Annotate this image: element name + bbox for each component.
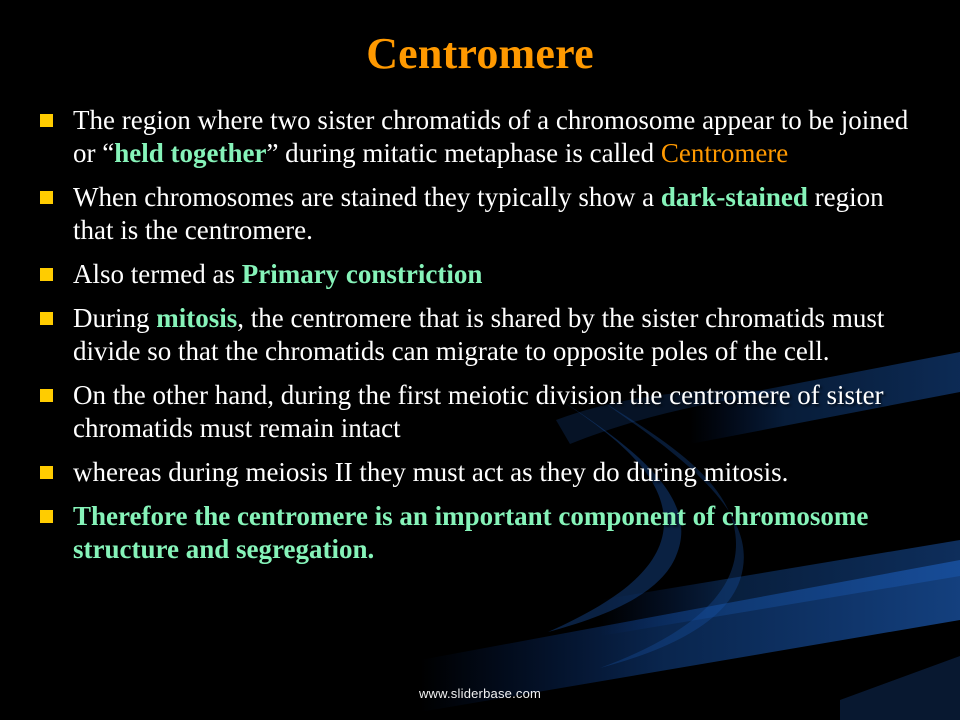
- bullet-item-5: On the other hand, during the first meio…: [40, 379, 930, 445]
- watermark-label: www.sliderbase.com: [0, 686, 960, 701]
- bullet-text-1: The region where two sister chromatids o…: [73, 104, 930, 170]
- bullet-square-icon: [40, 389, 53, 402]
- bullet-3-segment-1-highlight: Primary constriction: [242, 259, 483, 289]
- bullet-square-icon: [40, 268, 53, 281]
- presentation-slide: Centromere The region where two sister c…: [0, 0, 960, 720]
- bullet-text-5: On the other hand, during the first meio…: [73, 379, 930, 445]
- bullet-text-7: Therefore the centromere is an important…: [73, 500, 930, 566]
- bullet-4-segment-0: During: [73, 303, 156, 333]
- slide-body-list: The region where two sister chromatids o…: [40, 104, 930, 577]
- bullet-1-segment-1-highlight: held together: [114, 138, 266, 168]
- bullet-1-segment-3-highlight: Centromere: [661, 138, 788, 168]
- bullet-item-2: When chromosomes are stained they typica…: [40, 181, 930, 247]
- bullet-3-segment-0: Also termed as: [73, 259, 242, 289]
- bullet-text-4: During mitosis, the centromere that is s…: [73, 302, 930, 368]
- bullet-square-icon: [40, 466, 53, 479]
- bullet-item-6: whereas during meiosis II they must act …: [40, 456, 930, 489]
- slide-title: Centromere: [0, 28, 960, 79]
- bullet-2-segment-0: When chromosomes are stained they typica…: [73, 182, 661, 212]
- bullet-text-6: whereas during meiosis II they must act …: [73, 456, 930, 489]
- bullet-square-icon: [40, 510, 53, 523]
- bullet-square-icon: [40, 312, 53, 325]
- bullet-square-icon: [40, 191, 53, 204]
- bullet-2-segment-1-highlight: dark-stained: [661, 182, 808, 212]
- bullet-text-3: Also termed as Primary constriction: [73, 258, 930, 291]
- bullet-item-7: Therefore the centromere is an important…: [40, 500, 930, 566]
- bullet-square-icon: [40, 114, 53, 127]
- bullet-item-4: During mitosis, the centromere that is s…: [40, 302, 930, 368]
- bullet-1-segment-2: ” during mitatic metaphase is called: [266, 138, 660, 168]
- bullet-item-3: Also termed as Primary constriction: [40, 258, 930, 291]
- bullet-4-segment-1-highlight: mitosis: [156, 303, 237, 333]
- bullet-item-1: The region where two sister chromatids o…: [40, 104, 930, 170]
- bullet-text-2: When chromosomes are stained they typica…: [73, 181, 930, 247]
